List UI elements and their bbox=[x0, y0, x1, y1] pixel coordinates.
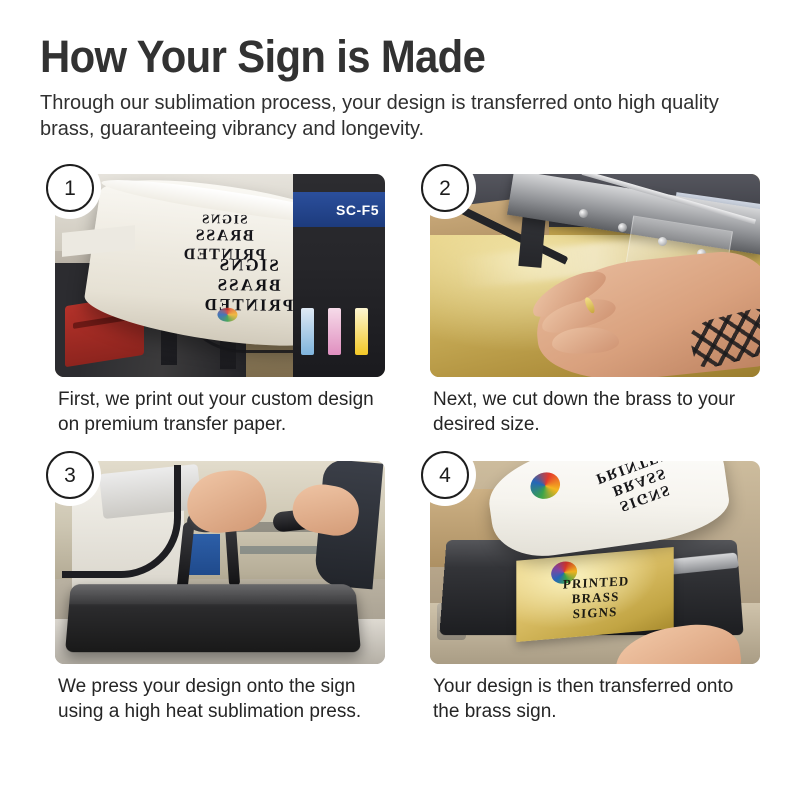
finished-sign-scene: PRINTED BRASS SIGNS SIGNS BRASS PRIN bbox=[430, 461, 760, 664]
printer-body: SC-F5 bbox=[293, 174, 385, 377]
step-3-caption: We press your design onto the sign using… bbox=[58, 674, 378, 724]
step-2-badge: 2 bbox=[421, 164, 469, 212]
ink-cartridge-cyan bbox=[301, 308, 314, 355]
transfer-paper-text: SIGNS BRASS PRINTED bbox=[573, 461, 707, 526]
step-4-photo: PRINTED BRASS SIGNS SIGNS BRASS PRIN bbox=[430, 461, 760, 664]
blade-bolt bbox=[579, 209, 588, 218]
page-title: How Your Sign is Made bbox=[40, 32, 710, 82]
step-2-caption: Next, we cut down the brass to your desi… bbox=[433, 387, 753, 437]
step-4-number: 4 bbox=[439, 465, 451, 486]
step-4-caption: Your design is then transferred onto the… bbox=[433, 674, 753, 724]
press-platen bbox=[65, 584, 361, 652]
step-2-figure: 2 bbox=[415, 162, 760, 377]
step-4: PRINTED BRASS SIGNS SIGNS BRASS PRIN bbox=[415, 449, 760, 724]
step-1-badge: 1 bbox=[46, 164, 94, 212]
step-1-number: 1 bbox=[64, 178, 76, 199]
step-2-photo bbox=[430, 174, 760, 377]
step-4-badge: 4 bbox=[421, 451, 469, 499]
step-3-number: 3 bbox=[64, 465, 76, 486]
step-1-caption: First, we print out your custom design o… bbox=[58, 387, 378, 437]
ink-cartridge-yellow bbox=[355, 308, 368, 355]
step-3-badge: 3 bbox=[46, 451, 94, 499]
step-1-figure: SIGNS BRASS PRINTED SIGNS BRASS PRINTED bbox=[40, 162, 385, 377]
printer-model-label: SC-F5 bbox=[336, 202, 379, 218]
header: How Your Sign is Made Through our sublim… bbox=[40, 0, 760, 142]
ink-cartridge-magenta bbox=[328, 308, 341, 355]
brand-logo-icon bbox=[527, 468, 564, 503]
brand-logo-icon bbox=[217, 308, 237, 322]
shear-scene bbox=[430, 174, 760, 377]
step-3-figure: 3 bbox=[40, 449, 385, 664]
infographic-page: How Your Sign is Made Through our sublim… bbox=[0, 0, 800, 800]
heat-press-scene bbox=[55, 461, 385, 664]
brass-sign: PRINTED BRASS SIGNS bbox=[516, 547, 674, 642]
step-2-number: 2 bbox=[439, 178, 451, 199]
printer-model-panel: SC-F5 bbox=[293, 192, 385, 227]
step-3-photo bbox=[55, 461, 385, 664]
step-1-photo: SIGNS BRASS PRINTED SIGNS BRASS PRINTED bbox=[55, 174, 385, 377]
step-1: SIGNS BRASS PRINTED SIGNS BRASS PRINTED bbox=[40, 162, 385, 437]
steps-grid: SIGNS BRASS PRINTED SIGNS BRASS PRINTED bbox=[40, 162, 760, 724]
printer-scene: SIGNS BRASS PRINTED SIGNS BRASS PRINTED bbox=[55, 174, 385, 377]
step-3: 3 We press your design onto the sign usi… bbox=[40, 449, 385, 724]
step-4-figure: PRINTED BRASS SIGNS SIGNS BRASS PRIN bbox=[415, 449, 760, 664]
arm-tattoo bbox=[686, 306, 760, 371]
sign-text: PRINTED BRASS SIGNS bbox=[525, 572, 665, 625]
page-subtitle: Through our sublimation process, your de… bbox=[40, 90, 737, 142]
blade-bolt bbox=[618, 223, 627, 232]
step-2: 2 Next, we cut down the brass to your de… bbox=[415, 162, 760, 437]
platen-edge bbox=[69, 584, 357, 604]
